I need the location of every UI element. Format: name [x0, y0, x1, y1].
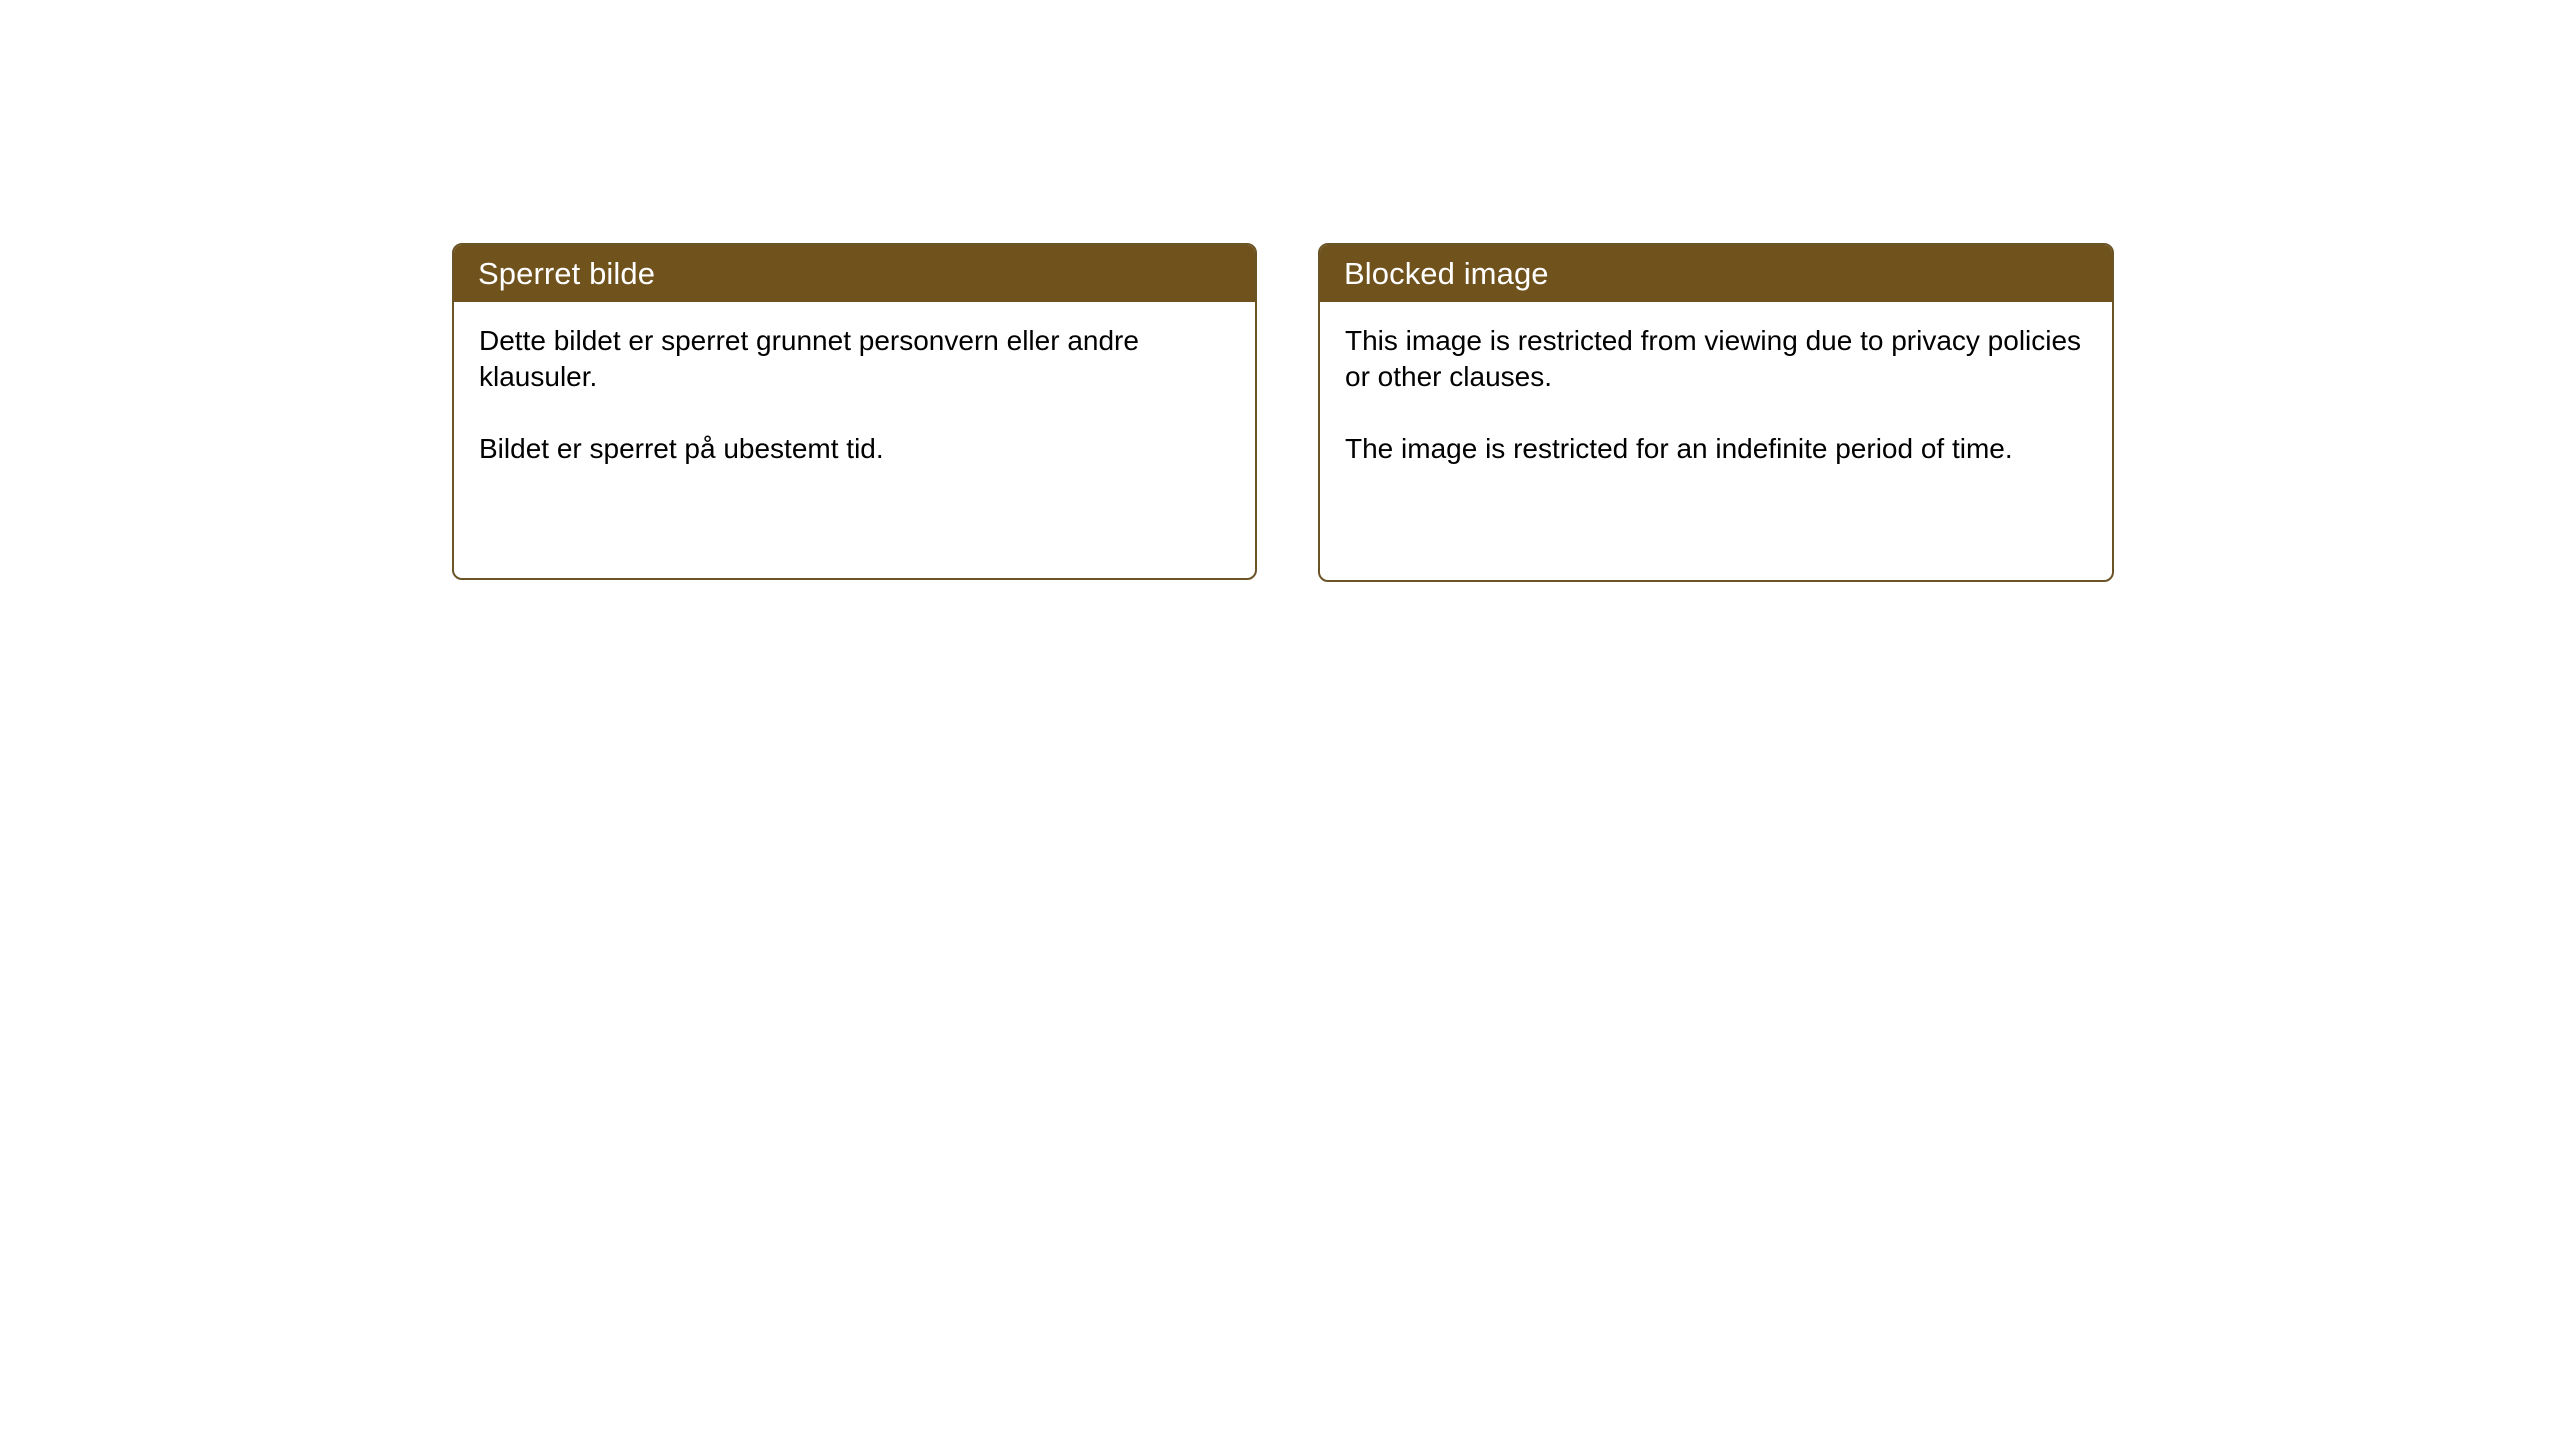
card-paragraph-primary-norwegian: Dette bildet er sperret grunnet personve…	[479, 323, 1229, 395]
card-title-norwegian: Sperret bilde	[478, 258, 655, 289]
card-paragraph-primary-english: This image is restricted from viewing du…	[1345, 323, 2086, 395]
card-body-norwegian: Dette bildet er sperret grunnet personve…	[454, 302, 1255, 467]
blocked-image-notice-norwegian: Sperret bilde Dette bildet er sperret gr…	[452, 243, 1257, 580]
paragraph-spacer	[1345, 395, 2086, 431]
card-paragraph-secondary-english: The image is restricted for an indefinit…	[1345, 431, 2086, 467]
blocked-image-notice-english: Blocked image This image is restricted f…	[1318, 243, 2114, 582]
card-header-norwegian: Sperret bilde	[454, 245, 1255, 302]
page-root: Sperret bilde Dette bildet er sperret gr…	[0, 0, 2560, 1440]
card-title-english: Blocked image	[1344, 258, 1549, 289]
card-header-english: Blocked image	[1320, 245, 2112, 302]
paragraph-spacer	[479, 395, 1229, 431]
card-paragraph-secondary-norwegian: Bildet er sperret på ubestemt tid.	[479, 431, 1229, 467]
card-body-english: This image is restricted from viewing du…	[1320, 302, 2112, 467]
